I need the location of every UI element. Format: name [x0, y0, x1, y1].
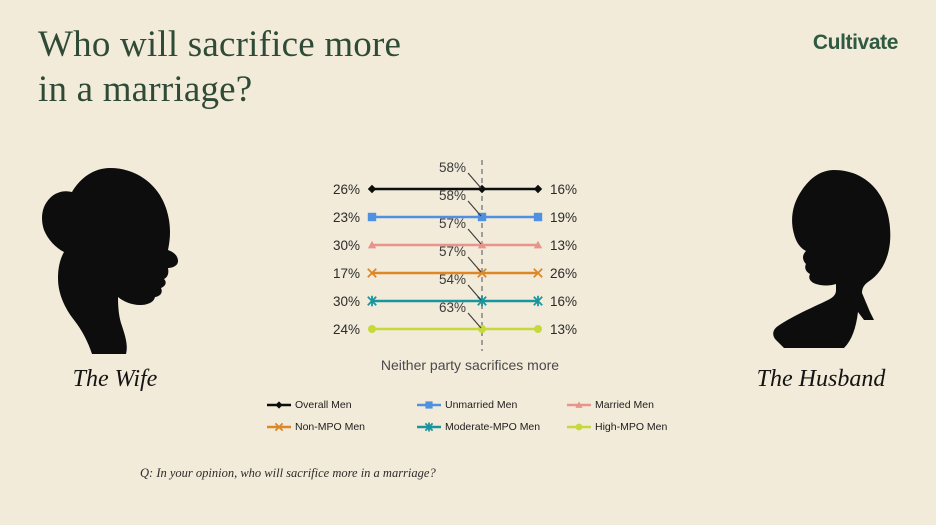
legend-item[interactable]: Unmarried Men — [416, 399, 566, 411]
middle-value-label: 57% — [439, 244, 466, 259]
axis-caption: Neither party sacrifices more — [290, 357, 650, 373]
legend-item[interactable]: Overall Men — [266, 399, 416, 411]
legend-item[interactable]: Moderate-MPO Men — [416, 421, 566, 433]
chart-legend: Overall MenUnmarried MenMarried MenNon-M… — [266, 394, 686, 438]
right-value-label: 26% — [550, 266, 577, 281]
middle-value-label: 57% — [439, 216, 466, 231]
legend-item[interactable]: Married Men — [566, 399, 686, 411]
left-value-label: 23% — [333, 210, 360, 225]
legend-item[interactable]: High-MPO Men — [566, 421, 686, 433]
middle-value-label: 58% — [439, 160, 466, 175]
legend-swatch-icon — [416, 399, 442, 411]
left-value-label: 30% — [333, 238, 360, 253]
middle-value-label: 63% — [439, 300, 466, 315]
woman-profile-silhouette-icon — [18, 160, 218, 360]
legend-label: Moderate-MPO Men — [445, 421, 540, 433]
legend-label: High-MPO Men — [595, 421, 667, 433]
man-profile-silhouette-icon — [724, 160, 924, 360]
callout-leader-line — [468, 257, 481, 272]
brand-logo: Cultivate — [813, 31, 898, 55]
legend-swatch-icon — [566, 399, 592, 411]
right-value-label: 19% — [550, 210, 577, 225]
diamond-marker-icon — [275, 401, 282, 408]
husband-label: The Husband — [706, 366, 936, 393]
left-value-label: 26% — [333, 182, 360, 197]
middle-value-label: 54% — [439, 272, 466, 287]
diamond-marker-icon — [534, 185, 542, 193]
callout-leader-line — [468, 285, 481, 300]
slide-canvas: Who will sacrifice more in a marriage? C… — [0, 0, 936, 525]
legend-swatch-icon — [566, 421, 592, 433]
right-value-label: 16% — [550, 294, 577, 309]
circle-marker-icon — [576, 424, 583, 431]
right-value-label: 13% — [550, 238, 577, 253]
left-value-label: 30% — [333, 294, 360, 309]
wife-label: The Wife — [0, 366, 230, 393]
dumbbell-chart: 26%16%58%23%19%58%30%13%57%17%26%57%30%1… — [290, 150, 650, 390]
square-marker-icon — [368, 213, 376, 221]
callout-leader-line — [468, 173, 481, 188]
survey-question-footnote: Q: In your opinion, who will sacrifice m… — [140, 466, 436, 481]
legend-label: Overall Men — [295, 399, 352, 411]
legend-swatch-icon — [416, 421, 442, 433]
left-value-label: 17% — [333, 266, 360, 281]
legend-label: Unmarried Men — [445, 399, 517, 411]
callout-leader-line — [468, 229, 481, 244]
legend-item[interactable]: Non-MPO Men — [266, 421, 416, 433]
circle-marker-icon — [534, 325, 542, 333]
legend-label: Non-MPO Men — [295, 421, 365, 433]
legend-swatch-icon — [266, 421, 292, 433]
right-value-label: 13% — [550, 322, 577, 337]
right-value-label: 16% — [550, 182, 577, 197]
left-value-label: 24% — [333, 322, 360, 337]
callout-leader-line — [468, 201, 481, 216]
chart-row: 24%13%63% — [333, 300, 577, 337]
square-marker-icon — [425, 401, 432, 408]
diamond-marker-icon — [368, 185, 376, 193]
middle-value-label: 58% — [439, 188, 466, 203]
legend-label: Married Men — [595, 399, 654, 411]
square-marker-icon — [534, 213, 542, 221]
legend-swatch-icon — [266, 399, 292, 411]
circle-marker-icon — [368, 325, 376, 333]
page-title: Who will sacrifice more in a marriage? — [38, 22, 558, 112]
callout-leader-line — [468, 313, 481, 328]
